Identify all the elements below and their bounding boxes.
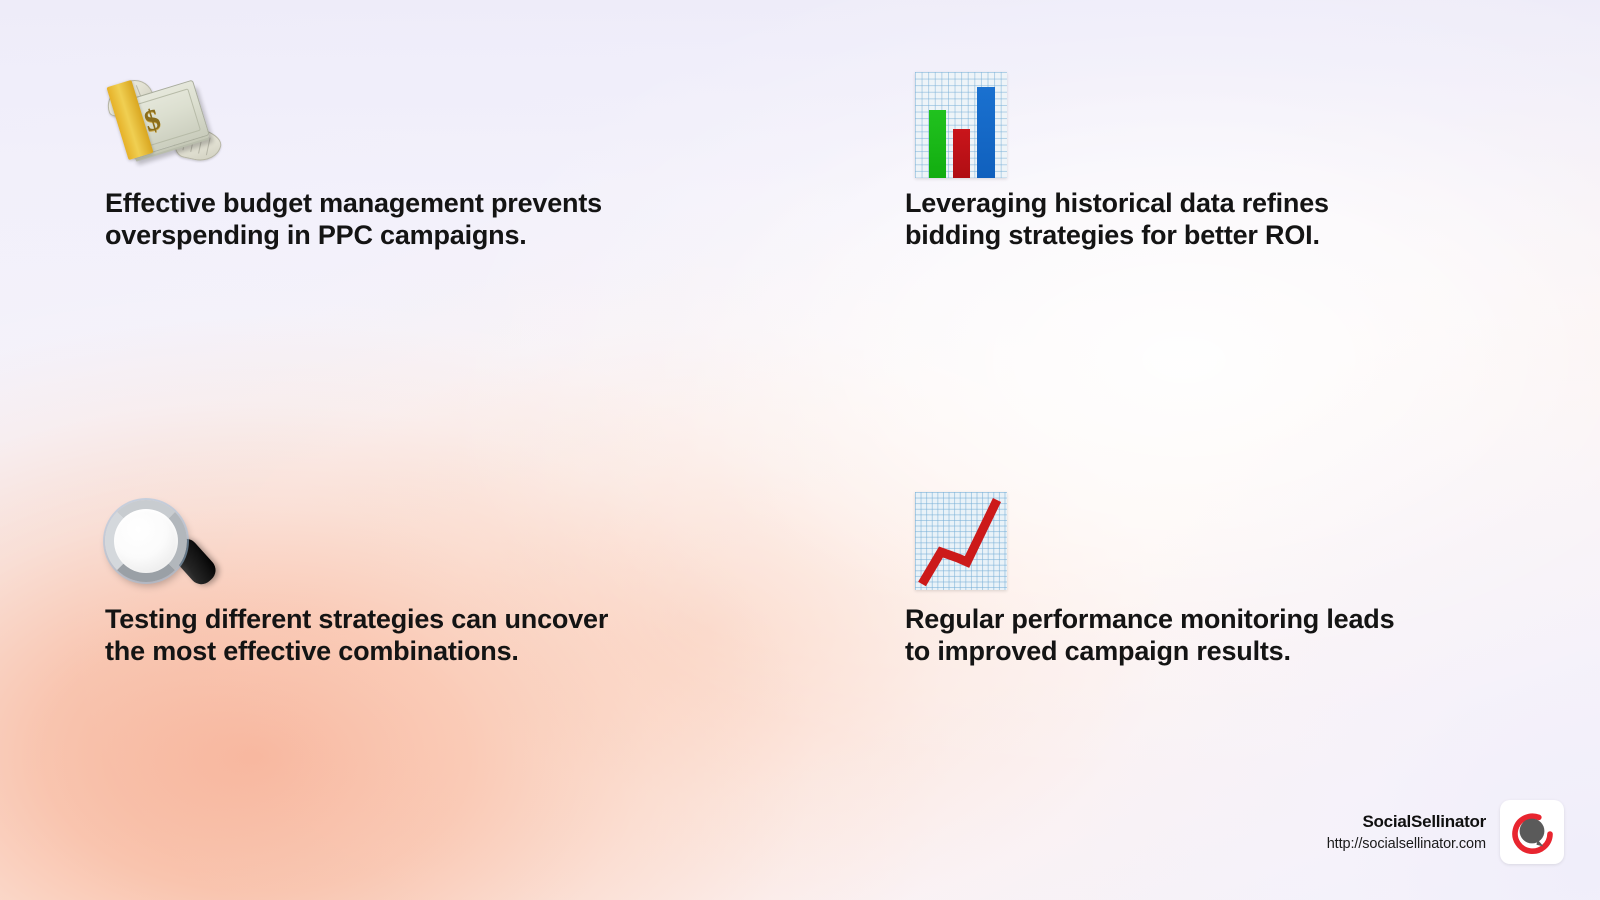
cards-grid: $ Effective budget management prevents o… xyxy=(0,0,1600,900)
card-headline: Leveraging historical data refines biddi… xyxy=(905,188,1425,252)
socialsellinator-speech-bubble-logo[interactable] xyxy=(1500,800,1564,864)
card-performance-monitoring: Regular performance monitoring leads to … xyxy=(905,492,1505,668)
slide-canvas: $ Effective budget management prevents o… xyxy=(0,0,1600,900)
card-headline: Regular performance monitoring leads to … xyxy=(905,604,1425,668)
footer-branding: SocialSellinator http://socialsellinator… xyxy=(1327,800,1564,864)
card-headline: Effective budget management prevents ove… xyxy=(105,188,685,252)
bar-series-red xyxy=(953,129,970,178)
trend-line-shape xyxy=(915,492,1007,590)
card-budget-management: $ Effective budget management prevents o… xyxy=(105,70,705,252)
card-testing-strategies: Testing different strategies can uncover… xyxy=(105,492,705,668)
brand-name: SocialSellinator xyxy=(1327,811,1486,832)
footer-text-block: SocialSellinator http://socialsellinator… xyxy=(1327,811,1486,853)
bar-series-blue xyxy=(977,87,995,178)
bar-chart-icon xyxy=(905,70,1505,188)
card-headline: Testing different strategies can uncover… xyxy=(105,604,685,668)
magnifying-glass-icon xyxy=(105,492,705,604)
chart-increasing-icon xyxy=(905,492,1505,604)
money-with-wings-icon: $ xyxy=(105,70,705,188)
graph-paper-shape xyxy=(915,72,1007,178)
bar-series-green xyxy=(929,110,946,178)
logo-glyph xyxy=(1506,806,1558,858)
brand-url[interactable]: http://socialsellinator.com xyxy=(1327,835,1486,853)
card-historical-data: Leveraging historical data refines biddi… xyxy=(905,70,1505,252)
magnifier-lens-shape xyxy=(105,500,187,582)
